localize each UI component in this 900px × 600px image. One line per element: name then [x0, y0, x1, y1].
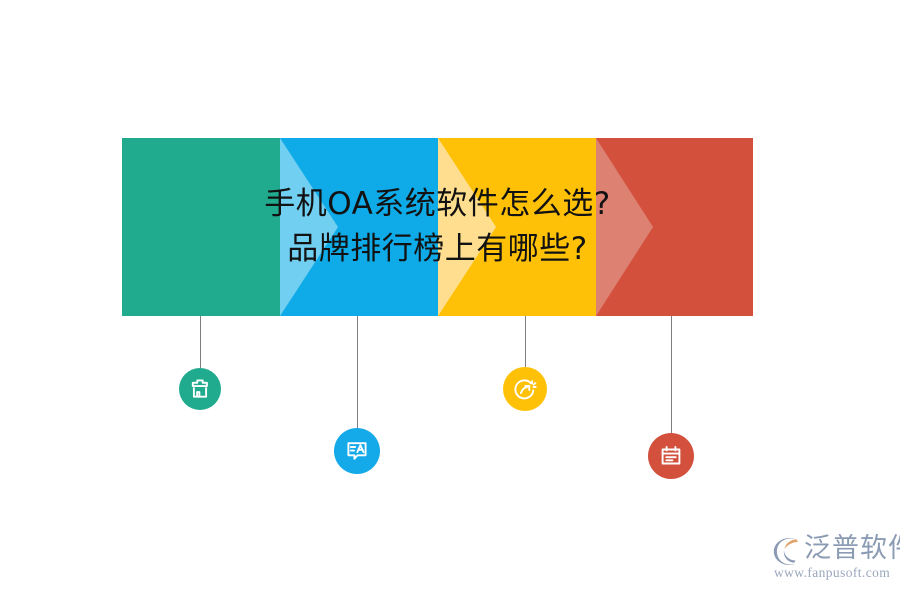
node-badge-shop[interactable] — [179, 368, 221, 410]
brand-url: www.fanpusoft.com — [774, 565, 890, 581]
connector-line-node-2 — [357, 316, 358, 428]
brand-name: 泛普软件 — [804, 534, 900, 564]
connector-line-node-3 — [525, 316, 526, 367]
banner-chevron-bar — [122, 138, 753, 316]
translate-icon — [344, 438, 370, 464]
node-badge-launch[interactable] — [503, 367, 547, 411]
banner-segment-green-base — [122, 138, 280, 316]
connector-line-node-1 — [200, 316, 201, 368]
connector-line-node-4 — [671, 316, 672, 433]
shop-icon — [188, 377, 212, 401]
node-badge-calendar[interactable] — [648, 433, 694, 479]
node-badge-translate[interactable] — [334, 428, 380, 474]
infographic-canvas: 手机OA系统软件怎么选? 品牌排行榜上有哪些? — [0, 0, 900, 600]
brand-logo[interactable]: 泛普软件 www.fanpusoft.com — [768, 534, 892, 582]
rocket-launch-icon — [513, 377, 538, 402]
calendar-note-icon — [658, 443, 684, 469]
